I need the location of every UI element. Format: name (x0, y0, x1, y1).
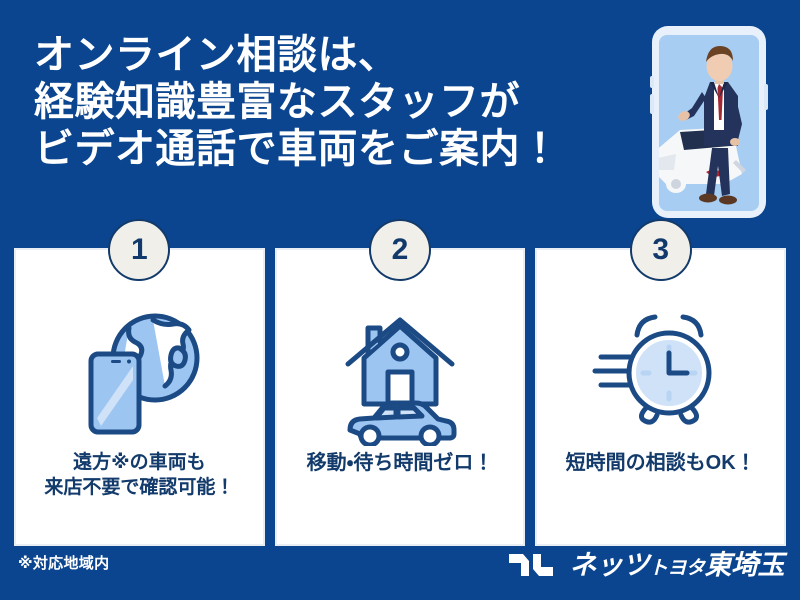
benefit-card-3-text: 短時間の相談もOK！ (560, 450, 762, 476)
smartphone-salesperson-car-illustration (650, 24, 768, 220)
benefit-card-3[interactable]: 3 (535, 248, 786, 546)
benefit-cards: 1 遠方※の車 (14, 248, 786, 546)
page-title: オンライン相談は、 経験知識豊富なスタッフが ビデオ通話で車両をご案内！ (34, 32, 634, 174)
card-2-text-line-1: 移動・待ち時間ゼロ！ (307, 450, 494, 476)
benefit-card-1[interactable]: 1 遠方※の車 (14, 248, 265, 546)
netz-n-logo-mark (507, 550, 557, 580)
footnote: ※対応地域内 (18, 552, 109, 573)
card-badge-3: 3 (630, 219, 692, 281)
card-badge-2: 2 (369, 219, 431, 281)
brand-name-main: ネッツ (569, 550, 649, 580)
card-badge-1: 1 (108, 219, 170, 281)
headline-line-2: 経験知識豊富なスタッフが (34, 79, 634, 126)
house-car-icon (334, 296, 466, 446)
card-1-text-line-2: 来店不要で確認可能！ (44, 475, 234, 500)
alarm-clock-speed-icon (591, 296, 731, 446)
headline-line-1: オンライン相談は、 (34, 32, 634, 79)
promo-banner: オンライン相談は、 経験知識豊富なスタッフが ビデオ通話で車両をご案内！ (0, 0, 800, 600)
brand-name: ネッツトヨタ東埼玉 (569, 552, 784, 579)
globe-smartphone-icon (73, 296, 205, 446)
benefit-card-2-text: 移動・待ち時間ゼロ！ (301, 450, 500, 476)
brand-logo[interactable]: ネッツトヨタ東埼玉 (507, 550, 784, 580)
headline-line-3: ビデオ通話で車両をご案内！ (34, 126, 634, 173)
card-3-text-line-1: 短時間の相談もOK！ (566, 450, 756, 476)
brand-name-region: 東埼玉 (705, 550, 785, 580)
card-1-text-line-1: 遠方※の車両も (44, 450, 234, 475)
benefit-card-1-text: 遠方※の車両も 来店不要で確認可能！ (38, 450, 240, 500)
benefit-card-2[interactable]: 2 (275, 248, 526, 546)
brand-name-sub: トヨタ (649, 558, 705, 579)
